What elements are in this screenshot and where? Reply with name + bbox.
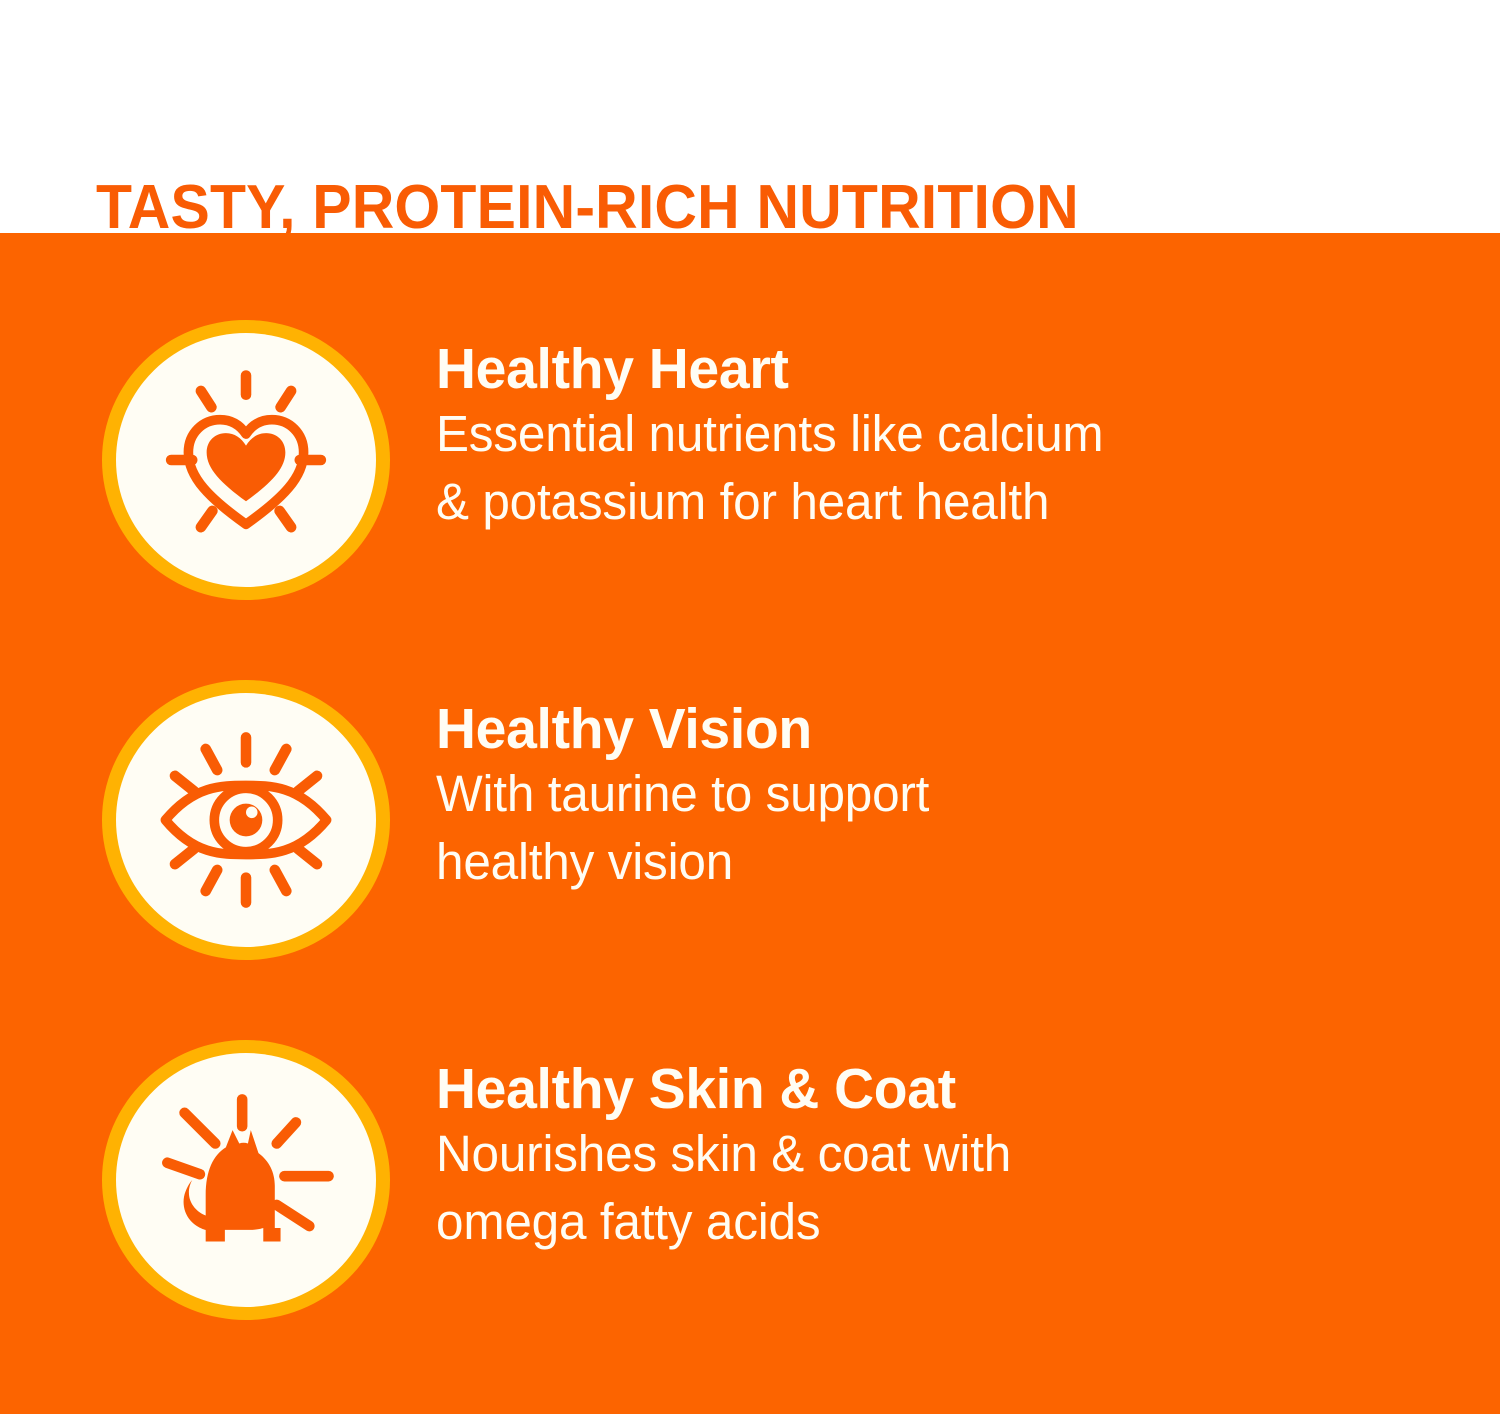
benefit-item-vision: Healthy Vision With taurine to support h… <box>0 680 1500 960</box>
benefit-text-vision: Healthy Vision With taurine to support h… <box>436 680 1376 896</box>
benefit-badge-heart <box>102 320 390 600</box>
benefit-description-line-1: Nourishes skin & coat with <box>436 1120 1348 1188</box>
benefit-description: With taurine to support healthy vision <box>436 760 1348 896</box>
benefit-description: Nourishes skin & coat with omega fatty a… <box>436 1120 1348 1256</box>
benefit-title: Healthy Heart <box>436 338 1348 400</box>
benefit-item-skin-coat: Healthy Skin & Coat Nourishes skin & coa… <box>0 1040 1500 1320</box>
radiant-eye-icon <box>146 724 346 916</box>
radiant-cat-icon <box>146 1084 346 1276</box>
radiant-heart-icon <box>146 364 346 556</box>
benefit-title: Healthy Skin & Coat <box>436 1058 1348 1120</box>
benefit-description: Essential nutrients like calcium & potas… <box>436 400 1348 536</box>
benefit-description-line-1: With taurine to support <box>436 760 1348 828</box>
benefit-text-skin-coat: Healthy Skin & Coat Nourishes skin & coa… <box>436 1040 1376 1256</box>
benefit-badge-vision <box>102 680 390 960</box>
headline-banner: TASTY, PROTEIN-RICH NUTRITION FOR ADULT … <box>0 0 1500 233</box>
benefit-item-heart: Healthy Heart Essential nutrients like c… <box>0 320 1500 600</box>
benefits-panel: Healthy Heart Essential nutrients like c… <box>0 233 1500 1414</box>
benefit-badge-skin-coat <box>102 1040 390 1320</box>
benefit-description-line-2: omega fatty acids <box>436 1188 1348 1256</box>
benefit-description-line-2: & potassium for heart health <box>436 468 1348 536</box>
benefit-title: Healthy Vision <box>436 698 1348 760</box>
product-benefits-infographic: TASTY, PROTEIN-RICH NUTRITION FOR ADULT … <box>0 0 1500 1414</box>
benefit-description-line-1: Essential nutrients like calcium <box>436 400 1348 468</box>
benefit-text-heart: Healthy Heart Essential nutrients like c… <box>436 320 1376 536</box>
benefit-description-line-2: healthy vision <box>436 828 1348 896</box>
